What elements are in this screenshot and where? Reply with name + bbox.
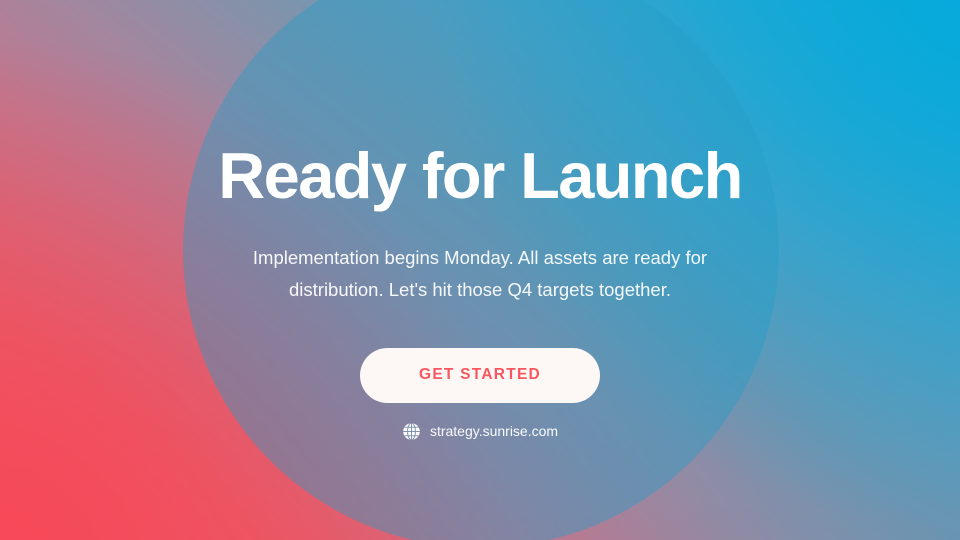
page-title: Ready for Launch xyxy=(218,143,741,208)
globe-icon xyxy=(402,422,421,441)
slide-content: Ready for Launch Implementation begins M… xyxy=(0,0,960,540)
hero-slide: Ready for Launch Implementation begins M… xyxy=(0,0,960,540)
get-started-button[interactable]: GET STARTED xyxy=(360,348,600,403)
subtitle-text: Implementation begins Monday. All assets… xyxy=(210,242,750,306)
website-link-label: strategy.sunrise.com xyxy=(430,423,558,439)
website-link[interactable]: strategy.sunrise.com xyxy=(402,422,558,441)
